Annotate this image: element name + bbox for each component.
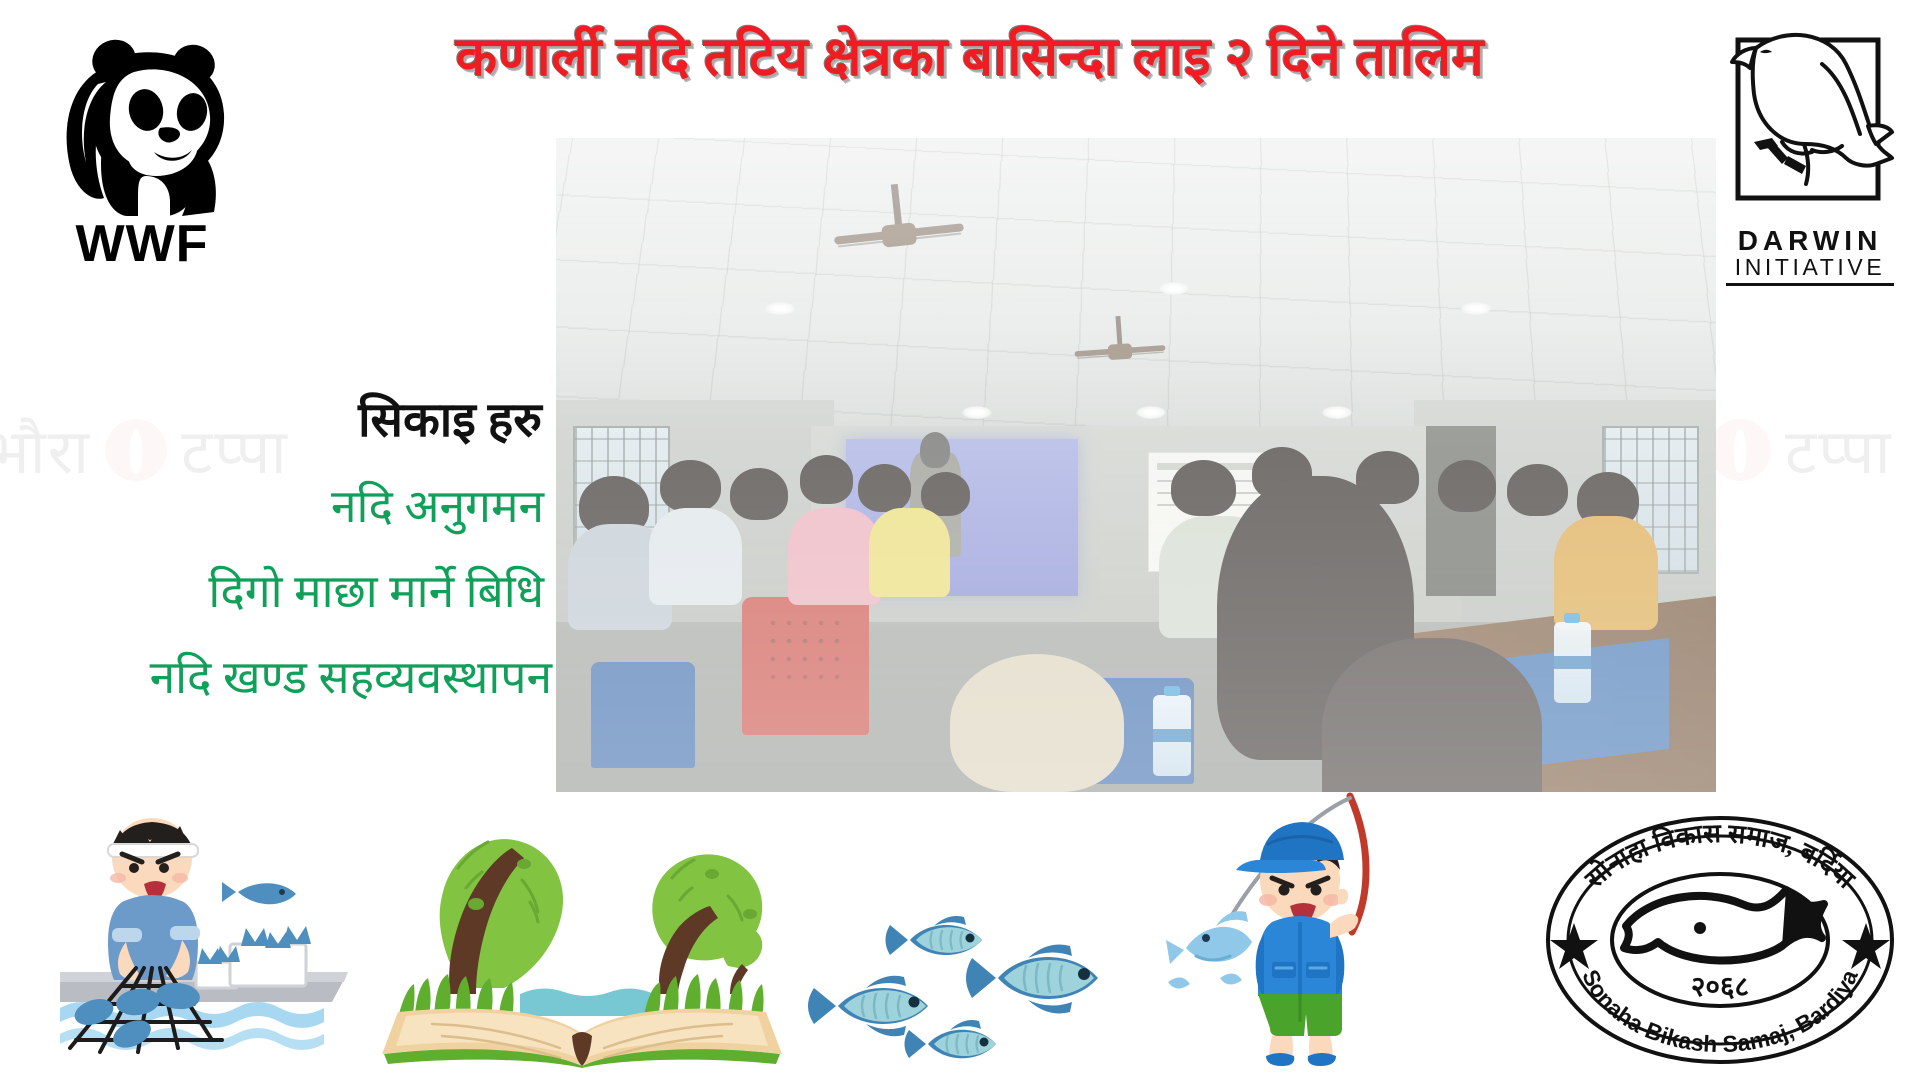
seal-icon: [1709, 419, 1771, 481]
bird-icon: [1726, 18, 1894, 226]
learning-item-1: नदि अनुगमन: [0, 478, 552, 536]
darwin-initiative-logo: DARWIN INITIATIVE: [1726, 18, 1894, 286]
panda-icon: [42, 16, 242, 216]
sonaha-bikash-samaj-stamp: सोनाहा विकास समाज, बर्दिया Sonaha Bikash…: [1530, 800, 1910, 1072]
darwin-line-2: INITIATIVE: [1726, 255, 1894, 285]
stamp-star-right: [1842, 923, 1890, 969]
school-of-fish-illustration: [800, 880, 1180, 1070]
boy-fishing-illustration: [1160, 786, 1440, 1070]
stamp-year: २०६८: [1691, 972, 1749, 1003]
learning-item-2: दिगो माछा मार्ने बिधि: [0, 563, 552, 621]
stamp-star-left: [1550, 923, 1598, 969]
darwin-wordmark: DARWIN INITIATIVE: [1726, 226, 1894, 286]
svg-text:सोनाहा विकास समाज, बर्दिया: सोनाहा विकास समाज, बर्दिया: [1578, 819, 1861, 895]
poster-title-text: कणार्ली नदि तटिय क्षेत्रका बासिन्दा लाइ …: [270, 26, 1670, 88]
wwf-logo: WWF: [42, 16, 242, 276]
wwf-wordmark: WWF: [42, 218, 242, 270]
stamp-top-text: सोनाहा विकास समाज, बर्दिया: [1578, 819, 1861, 895]
poster-canvas: भौरा टप्पा भौरा टप्पा: [0, 0, 1920, 1080]
learnings-heading: सिकाइ हरु: [0, 392, 552, 450]
watermark-text-right-2: टप्पा: [1785, 408, 1893, 492]
poster-title: कणार्ली नदि तटिय क्षेत्रका बासिन्दा लाइ …: [270, 26, 1670, 88]
photo-haze-overlay: [556, 138, 1716, 792]
stamp-fish-icon: [1624, 890, 1824, 961]
fisherman-with-net-illustration: [60, 796, 360, 1066]
training-hall-photograph: [556, 138, 1716, 792]
learnings-block: सिकाइ हरु नदि अनुगमन दिगो माछा मार्ने बि…: [0, 392, 552, 706]
learning-item-3: नदि खण्ड सहव्यवस्थापन: [0, 649, 552, 707]
darwin-line-1: DARWIN: [1726, 226, 1894, 255]
book-with-trees-illustration: [372, 796, 792, 1068]
